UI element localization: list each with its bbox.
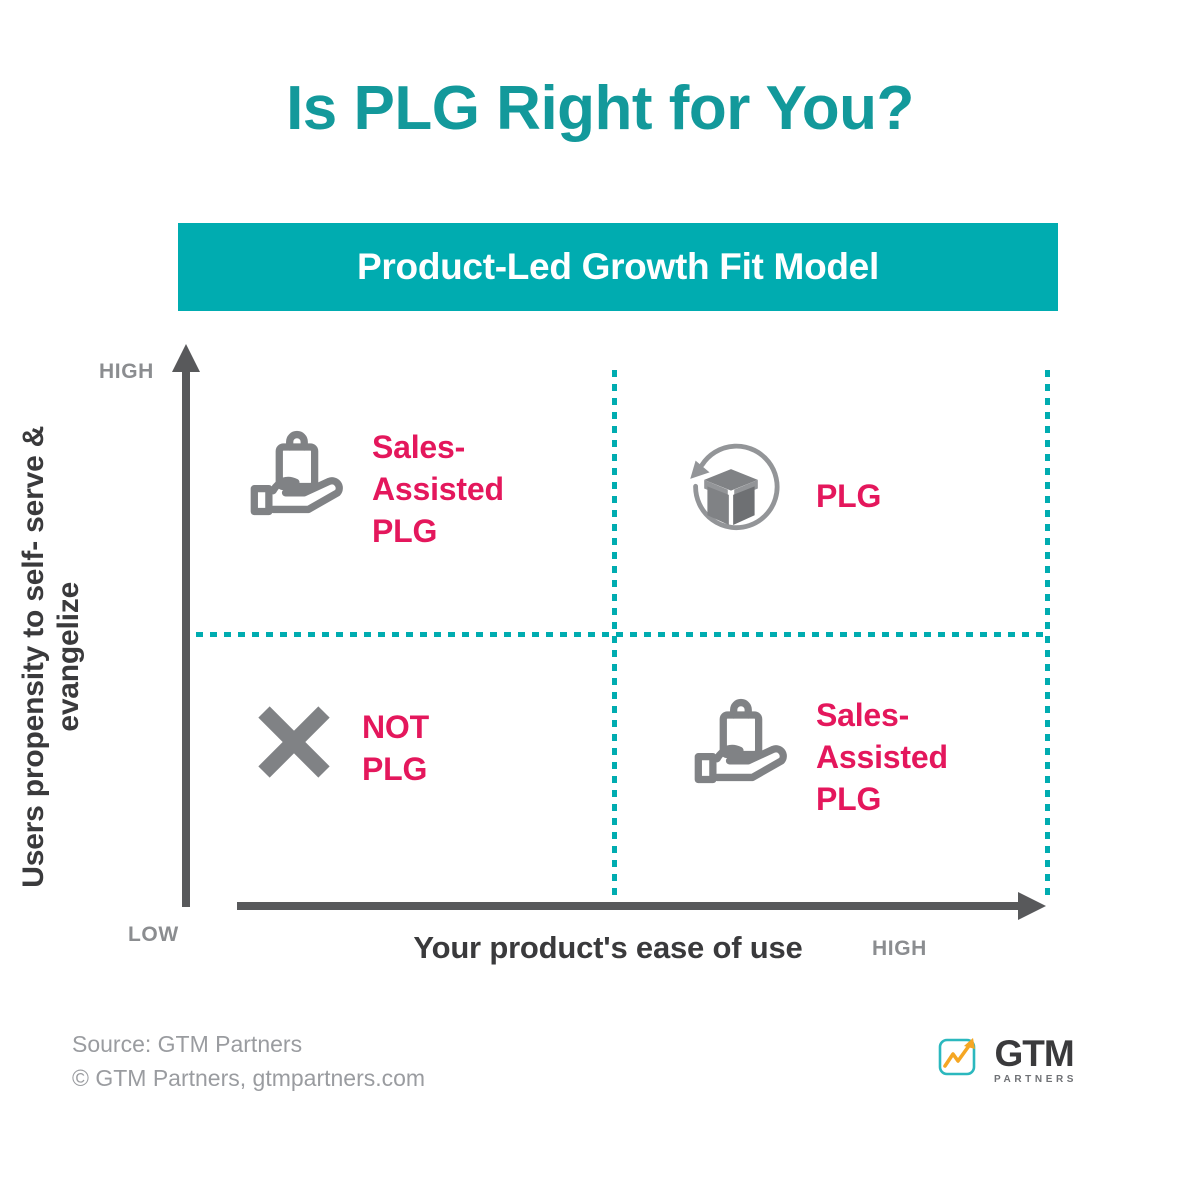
gtm-partners-logo: GTM PARTNERS bbox=[935, 1032, 1074, 1089]
gtm-chart-arrow-icon bbox=[935, 1032, 987, 1089]
quadrant-top-left: Sales- Assisted PLG bbox=[246, 420, 504, 553]
x-axis-low-label: LOW bbox=[128, 923, 179, 947]
quadrant-bottom-left: NOT PLG bbox=[252, 700, 429, 790]
quadrant-label-bottom-left: NOT PLG bbox=[362, 706, 429, 790]
quadrant-label-bottom-right: Sales- Assisted PLG bbox=[816, 694, 948, 821]
quadrant-label-top-left: Sales- Assisted PLG bbox=[372, 426, 504, 553]
hand-holding-bag-icon bbox=[246, 420, 350, 524]
quadrant-bottom-right: Sales- Assisted PLG bbox=[690, 688, 948, 821]
source-credit: Source: GTM Partners © GTM Partners, gtm… bbox=[72, 1028, 425, 1095]
y-axis-high-label: HIGH bbox=[99, 360, 154, 384]
quadrant-label-top-right: PLG bbox=[816, 475, 881, 517]
quadrant-divider-horizontal bbox=[196, 632, 1050, 637]
quadrant-chart: HIGH LOW HIGH Users propensity to self- … bbox=[0, 0, 1200, 1200]
x-axis-title: Your product's ease of use bbox=[228, 930, 988, 966]
chart-axes bbox=[0, 0, 1200, 1200]
x-mark-icon bbox=[252, 700, 336, 784]
gtm-logo-subtitle: PARTNERS bbox=[994, 1074, 1077, 1085]
hand-holding-bag-icon bbox=[690, 688, 794, 792]
box-refresh-icon bbox=[672, 437, 790, 555]
quadrant-top-right: PLG bbox=[672, 437, 881, 555]
gtm-logo-text: GTM bbox=[994, 1036, 1073, 1071]
gtm-wordmark: GTM PARTNERS bbox=[994, 1036, 1074, 1084]
y-axis-title: Users propensity to self- serve & evange… bbox=[17, 377, 87, 937]
